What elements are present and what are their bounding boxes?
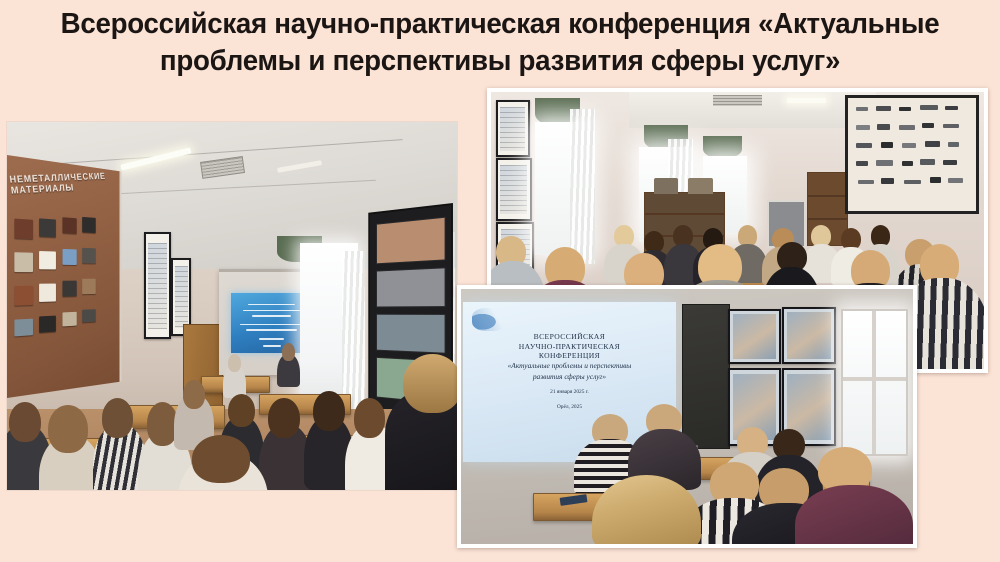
wall-poster (496, 100, 530, 157)
board-title: НЕМЕТАЛЛИЧЕСКИЕ МАТЕРИАЛЫ (9, 171, 118, 196)
head (228, 354, 242, 372)
wall-poster (144, 232, 171, 339)
presentation-slide: Всероссийская научно-практическая конфер… (0, 0, 1000, 562)
title-line-1: Всероссийская научно-практическая конфер… (23, 6, 978, 43)
head (313, 391, 345, 431)
photo-bottom-content: ВСЕРОССИЙСКАЯ НАУЧНО-ПРАКТИЧЕСКАЯ КОНФЕР… (461, 289, 913, 544)
wall-frame (782, 307, 836, 365)
head (282, 343, 296, 361)
title-line-2: проблемы и перспективы развития сферы ус… (23, 43, 978, 80)
materials-display-board: НЕМЕТАЛЛИЧЕСКИЕ МАТЕРИАЛЫ (7, 155, 121, 398)
wall-frame (728, 309, 782, 364)
photo-left-content: НЕМЕТАЛЛИЧЕСКИЕ МАТЕРИАЛЫ (7, 122, 457, 490)
ceiling-vent (200, 156, 244, 178)
exhibit-case (845, 95, 979, 215)
head (183, 380, 206, 409)
sheer-curtain (570, 109, 595, 264)
slide-line-5: развития сферы услуг» (472, 372, 667, 381)
head (192, 435, 251, 483)
slide-place: Орёл, 2025 (472, 403, 667, 411)
projected-slide-text: ВСЕРОССИЙСКАЯ НАУЧНО-ПРАКТИЧЕСКАЯ КОНФЕР… (472, 332, 667, 411)
slide-line-3: КОНФЕРЕНЦИЯ (472, 351, 667, 360)
head (354, 398, 386, 438)
head (268, 398, 300, 438)
ceiling-light (120, 147, 191, 171)
photo-classroom-audience-rear-view: НЕМЕТАЛЛИЧЕСКИЕ МАТЕРИАЛЫ (7, 122, 457, 490)
slide-line-1: ВСЕРОССИЙСКАЯ (472, 332, 667, 341)
slide-line-4: «Актуальные проблемы и перспективы (472, 361, 667, 370)
slide-line-2: НАУЧНО-ПРАКТИЧЕСКАЯ (472, 342, 667, 351)
head (48, 405, 89, 453)
window (841, 309, 908, 456)
organization-logo (472, 308, 506, 330)
head (102, 398, 134, 438)
blackboard (682, 304, 729, 449)
ceiling-light (277, 160, 322, 173)
wall-poster (496, 158, 532, 220)
page-title: Всероссийская научно-практическая конфер… (0, 6, 1000, 80)
photo-presenters-with-projection-screen: ВСЕРОССИЙСКАЯ НАУЧНО-ПРАКТИЧЕСКАЯ КОНФЕР… (457, 285, 917, 548)
head (403, 354, 457, 413)
head (9, 402, 41, 442)
head (228, 394, 255, 427)
slide-date: 21 января 2025 г. (472, 388, 667, 396)
